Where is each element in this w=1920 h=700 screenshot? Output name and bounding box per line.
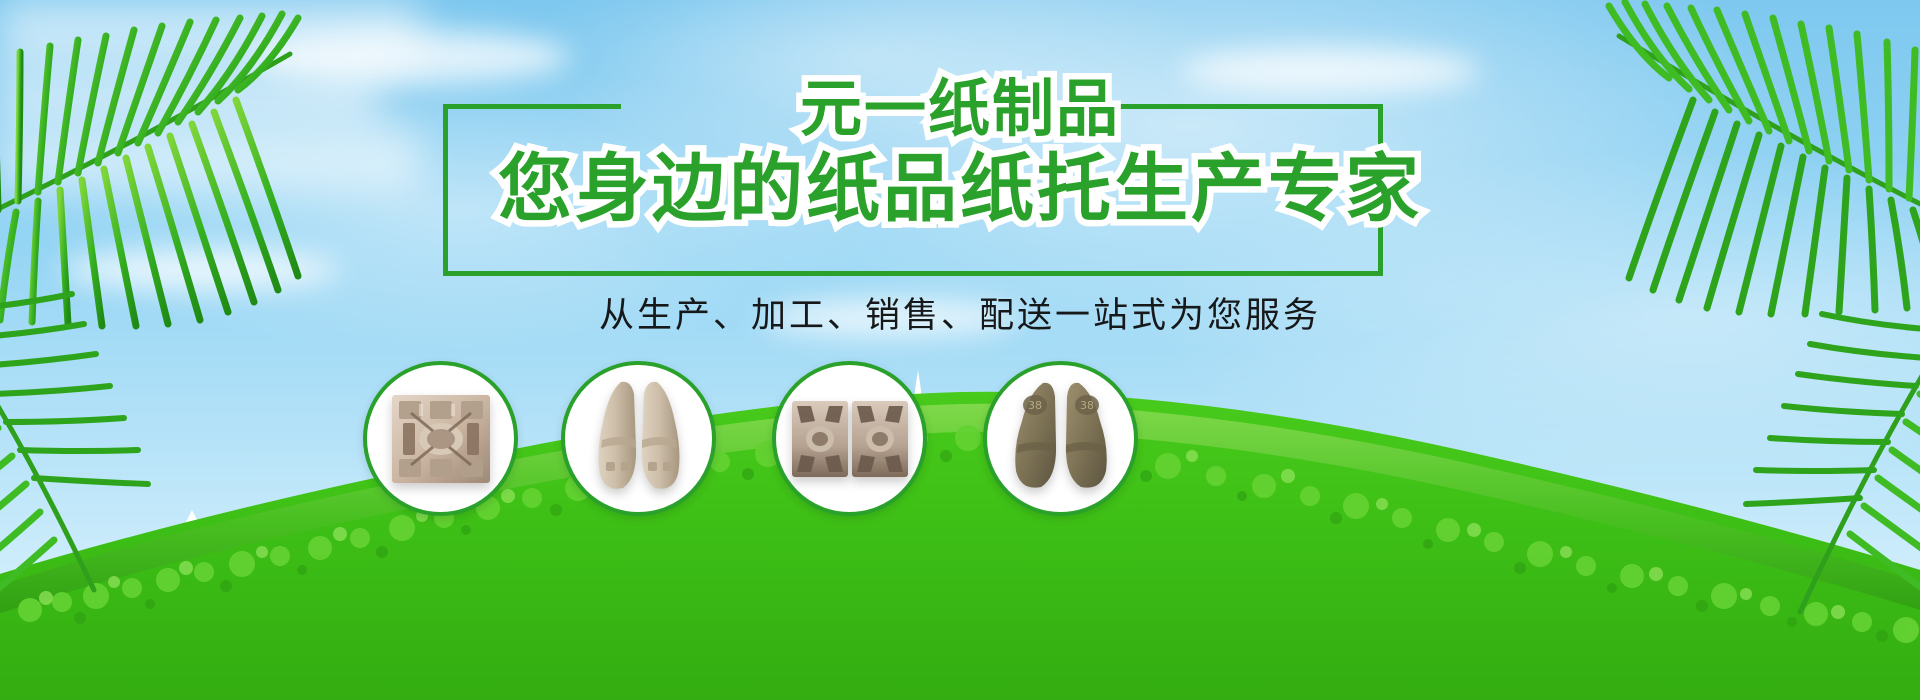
paper-pulp-tray-square-icon: [389, 387, 493, 491]
paper-pulp-shoe-insert-dark-icon: 38 38: [1009, 379, 1113, 499]
paper-pulp-tray-pair-icon: [791, 397, 909, 481]
svg-text:38: 38: [1080, 399, 1094, 412]
svg-text:38: 38: [1028, 399, 1042, 412]
product-showcase: 38 38: [0, 0, 1920, 700]
product-circle-paper-pulp-tray-square[interactable]: [363, 361, 518, 516]
product-circle-paper-pulp-tray-pair[interactable]: [772, 361, 927, 516]
promotional-banner: 元一纸制品 您身边的纸品纸托生产专家 从生产、加工、销售、配送一站式为您服务: [0, 0, 1920, 700]
product-circle-paper-pulp-shoe-insert-light[interactable]: [561, 361, 716, 516]
paper-pulp-shoe-insert-light-icon: [591, 378, 687, 500]
product-circle-paper-pulp-shoe-insert-dark[interactable]: 38 38: [983, 361, 1138, 516]
